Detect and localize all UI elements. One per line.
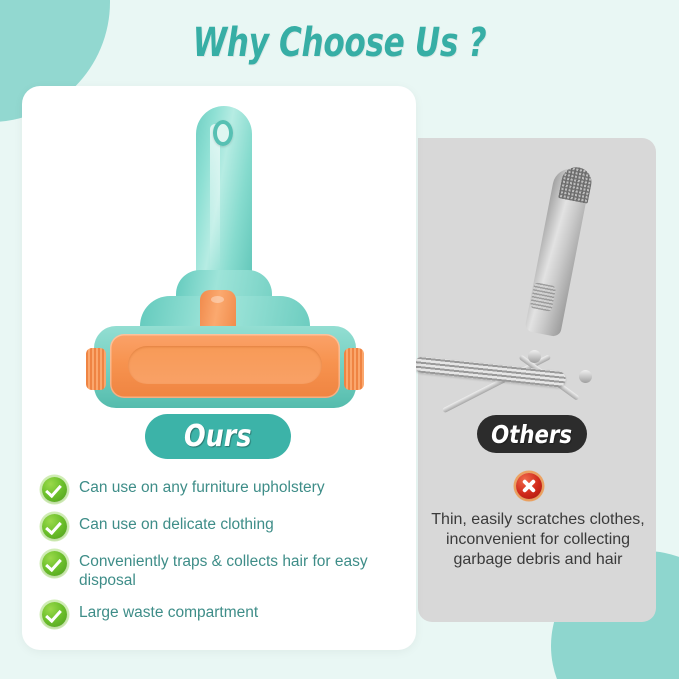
roller-drum: [110, 334, 340, 398]
green-check-icon: [42, 551, 67, 576]
shaver-joint-left: [528, 350, 541, 363]
list-item: Large waste compartment: [42, 601, 382, 627]
ours-badge-label: Ours: [184, 419, 252, 454]
ours-badge: Ours: [145, 414, 291, 459]
others-description: Thin, easily scratches clothes, inconven…: [428, 510, 648, 570]
green-check-icon: [42, 477, 67, 502]
list-item: Conveniently traps & collects hair for e…: [42, 550, 382, 590]
green-check-icon: [42, 514, 67, 539]
feature-label: Large waste compartment: [79, 601, 258, 622]
infographic-canvas: Why Choose Us ?: [0, 0, 679, 679]
shaver-joint-right: [579, 370, 592, 383]
others-badge: Others: [477, 415, 587, 453]
list-item: Can use on delicate clothing: [42, 513, 382, 539]
feature-label: Can use on delicate clothing: [79, 513, 274, 534]
roller-end-cap-left: [86, 348, 106, 390]
others-badge-label: Others: [492, 420, 573, 449]
feature-label: Conveniently traps & collects hair for e…: [79, 550, 382, 590]
feature-label: Can use on any furniture upholstery: [79, 476, 325, 497]
roller-hang-hole: [213, 120, 233, 146]
others-product-image: [448, 158, 628, 388]
list-item: Can use on any furniture upholstery: [42, 476, 382, 502]
roller-end-cap-right: [344, 348, 364, 390]
red-x-icon: [516, 473, 542, 499]
green-check-icon: [42, 602, 67, 627]
page-title: Why Choose Us ?: [75, 20, 605, 66]
ours-feature-list: Can use on any furniture upholstery Can …: [42, 476, 382, 638]
roller-drum-inset: [128, 346, 322, 384]
ours-product-image: [80, 100, 370, 390]
